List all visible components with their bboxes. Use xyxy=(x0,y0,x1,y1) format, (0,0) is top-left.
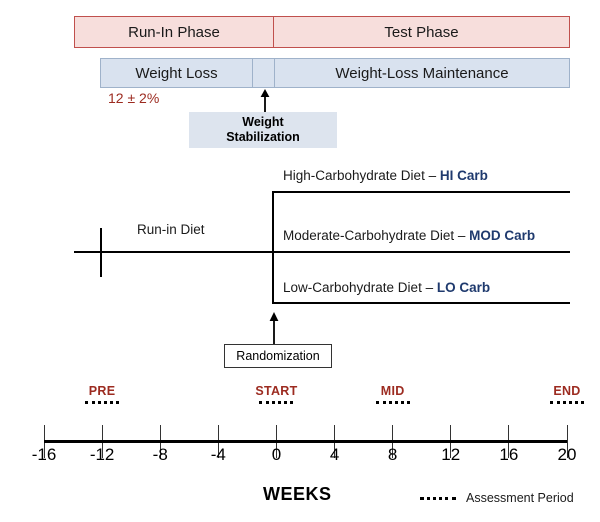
subphase-band: Weight Loss Weight-Loss Maintenance xyxy=(100,58,570,88)
axis-label-8: 8 xyxy=(370,445,416,465)
axis-label-20: 20 xyxy=(544,445,590,465)
axis-label-4: 4 xyxy=(312,445,358,465)
phase-test: Test Phase xyxy=(274,17,569,47)
assessment-period-dots-pre xyxy=(85,401,119,404)
arm-name-hi-carb: High-Carbohydrate Diet xyxy=(283,168,425,183)
axis-label-12: 12 xyxy=(428,445,474,465)
weight-stabilization-line-2: Stabilization xyxy=(226,130,300,145)
subphase-weight-loss-maintenance: Weight-Loss Maintenance xyxy=(275,59,569,87)
timepoint-end: END xyxy=(527,384,600,404)
randomization-box: Randomization xyxy=(224,344,332,368)
weight-stabilization-box: Weight Stabilization xyxy=(189,112,337,148)
randomization-arrow-icon xyxy=(267,312,281,346)
legend-dotted-swatch xyxy=(420,497,456,500)
study-design-diagram: Run-In Phase Test Phase Weight Loss Weig… xyxy=(0,0,600,522)
arm-label-hi-carb: High-Carbohydrate Diet – HI Carb xyxy=(283,168,488,183)
phase-band: Run-In Phase Test Phase xyxy=(74,16,570,48)
timepoint-label-start: START xyxy=(236,384,316,398)
arm-label-mod-carb: Moderate-Carbohydrate Diet – MOD Carb xyxy=(283,228,535,243)
timepoint-mid: MID xyxy=(353,384,433,404)
subphase-stabilization-gap xyxy=(253,59,275,87)
axis-label-neg8: -8 xyxy=(137,445,183,465)
arm-name-lo-carb: Low-Carbohydrate Diet xyxy=(283,280,422,295)
arm-code-hi-carb: HI Carb xyxy=(440,168,488,183)
arm-line-mod-carb xyxy=(272,251,570,253)
timepoint-label-mid: MID xyxy=(353,384,433,398)
arm-line-lo-carb xyxy=(272,302,570,304)
assessment-period-dots-mid xyxy=(376,401,410,404)
axis-label-neg16: -16 xyxy=(21,445,67,465)
arm-code-mod-carb: MOD Carb xyxy=(469,228,535,243)
weight-loss-percent-label: 12 ± 2% xyxy=(108,90,159,106)
arm-line-hi-carb xyxy=(272,191,570,193)
arm-dash-lo-carb: – xyxy=(426,280,434,295)
timepoint-pre: PRE xyxy=(62,384,142,404)
arm-code-lo-carb: LO Carb xyxy=(437,280,490,295)
assessment-period-dots-start xyxy=(259,401,293,404)
axis-line xyxy=(44,440,567,443)
axis-label-neg12: -12 xyxy=(79,445,125,465)
arm-name-mod-carb: Moderate-Carbohydrate Diet xyxy=(283,228,454,243)
subphase-weight-loss: Weight Loss xyxy=(101,59,253,87)
arm-dash-hi-carb: – xyxy=(429,168,437,183)
assessment-period-dots-end xyxy=(550,401,584,404)
axis-label-16: 16 xyxy=(486,445,532,465)
axis-label-neg4: -4 xyxy=(195,445,241,465)
axis-label-0: 0 xyxy=(253,445,299,465)
run-in-diet-label: Run-in Diet xyxy=(137,222,205,237)
arm-label-lo-carb: Low-Carbohydrate Diet – LO Carb xyxy=(283,280,490,295)
run-in-diet-line xyxy=(74,251,274,253)
phase-run-in: Run-In Phase xyxy=(75,17,274,47)
legend-label-assessment-period: Assessment Period xyxy=(466,491,574,505)
timepoint-start: START xyxy=(236,384,316,404)
timepoint-label-pre: PRE xyxy=(62,384,142,398)
weight-stabilization-line-1: Weight xyxy=(242,115,283,130)
run-in-start-tick xyxy=(100,228,102,277)
randomization-branch-line xyxy=(272,191,274,303)
timepoint-label-end: END xyxy=(527,384,600,398)
arm-dash-mod-carb: – xyxy=(458,228,466,243)
legend: Assessment Period xyxy=(420,491,574,505)
axis-title: WEEKS xyxy=(263,484,332,505)
